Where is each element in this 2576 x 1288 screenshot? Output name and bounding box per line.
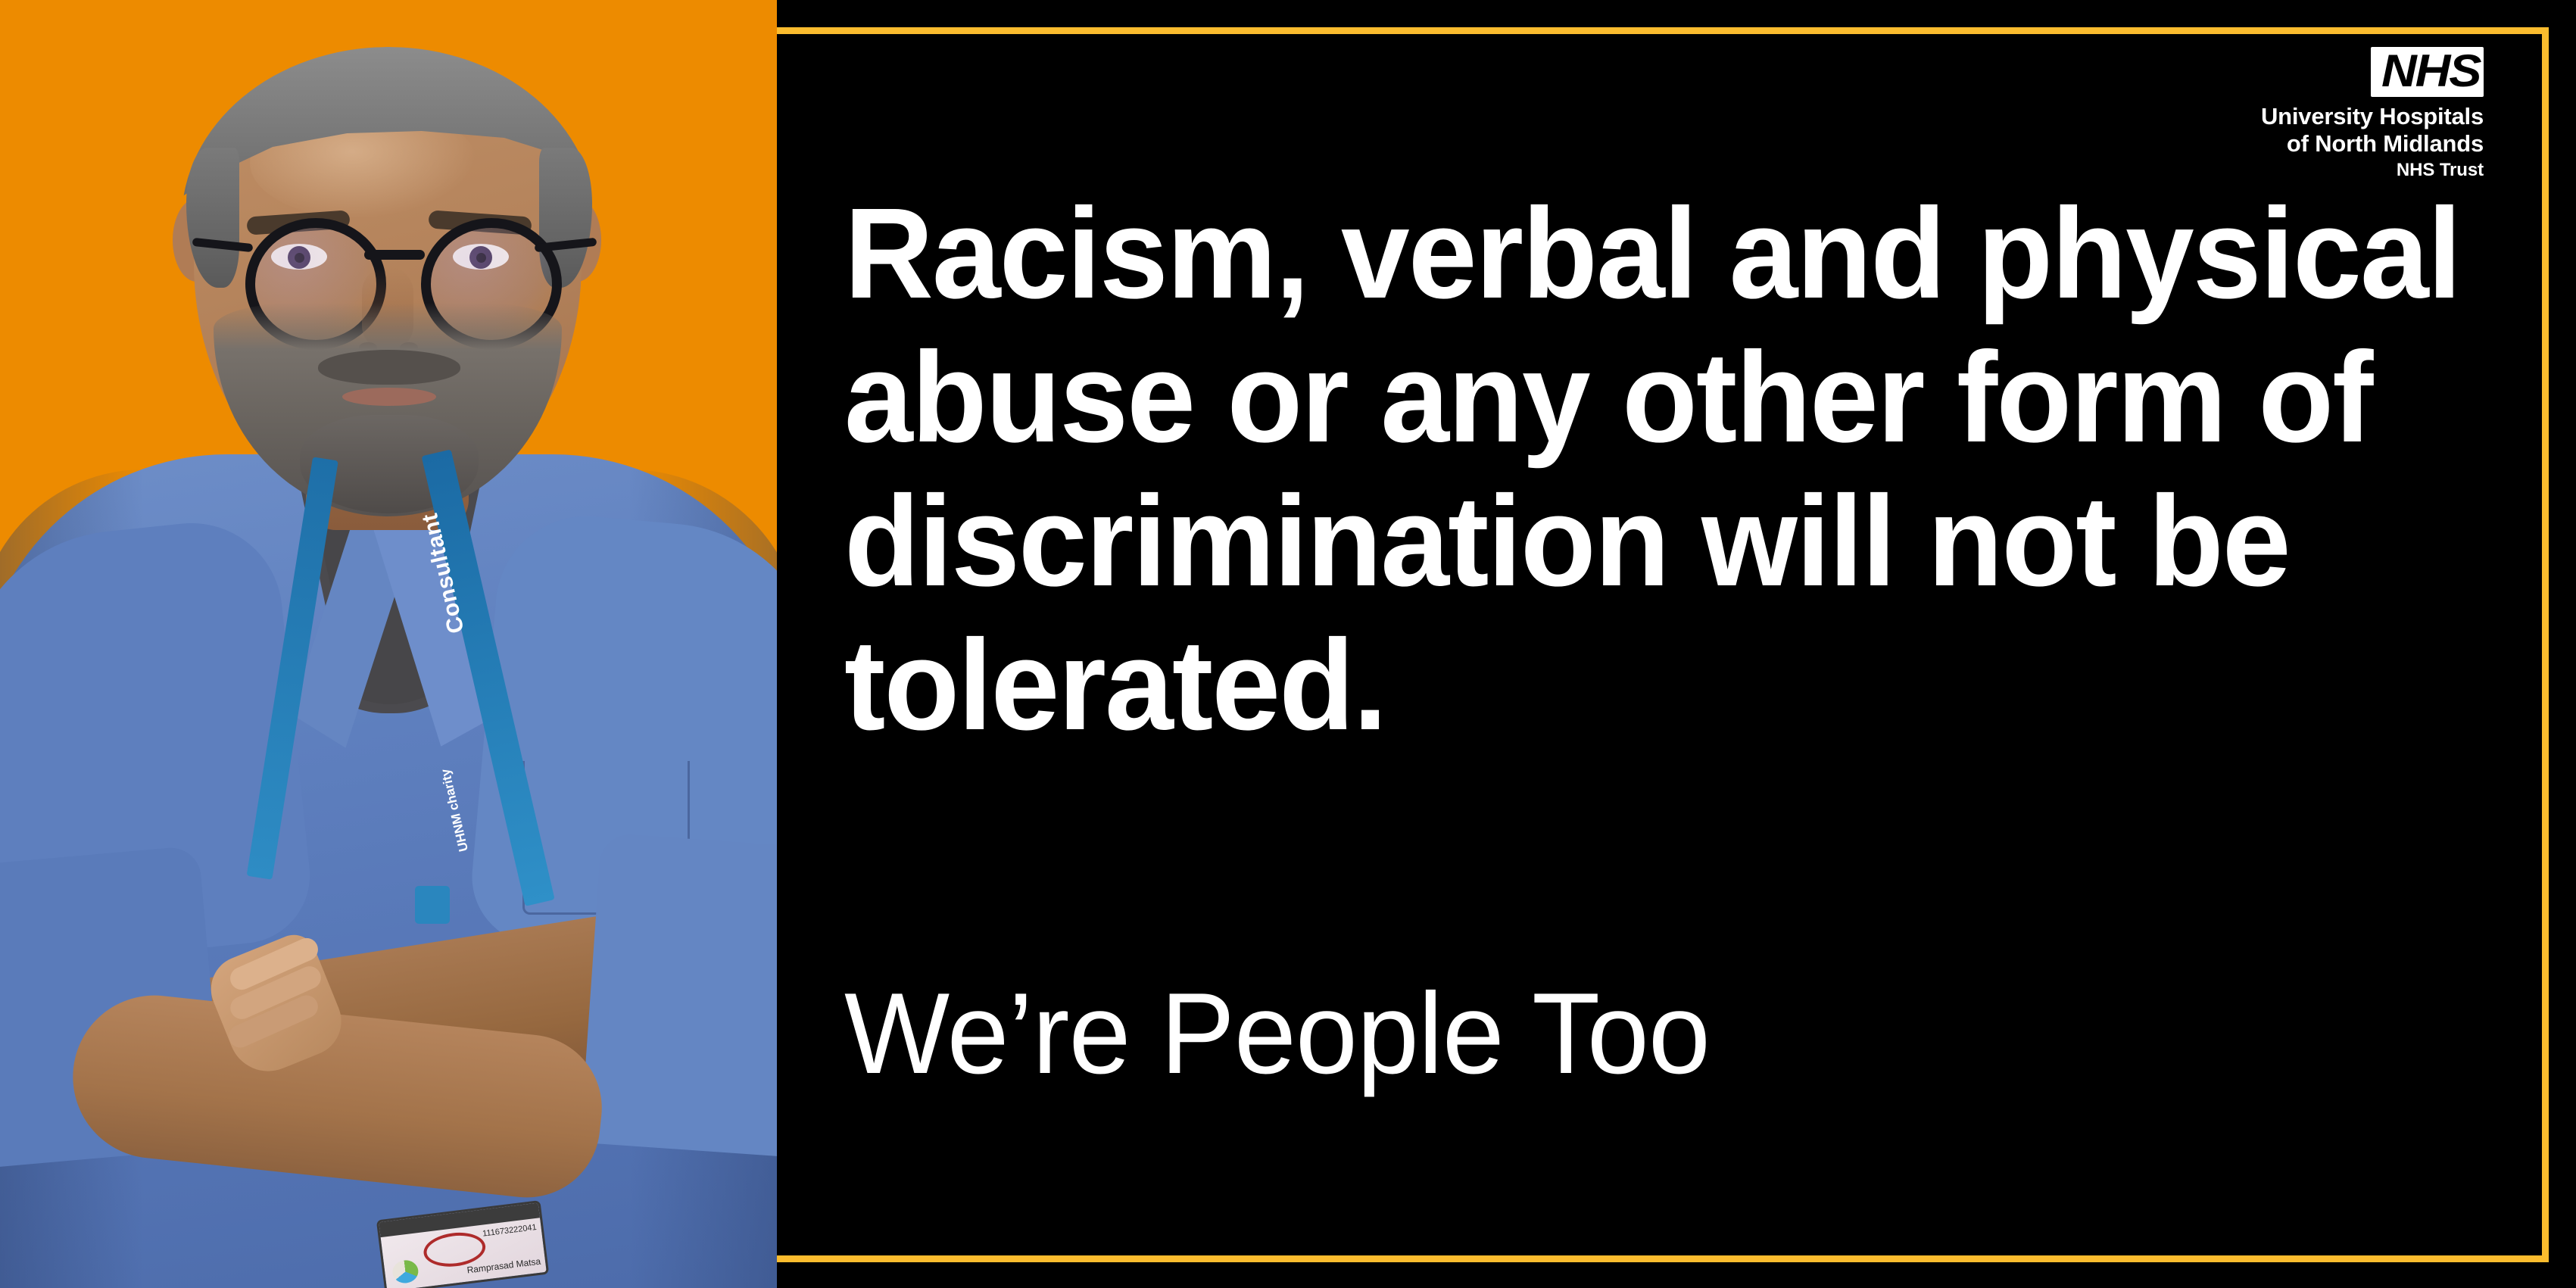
frame-rule-bottom bbox=[777, 1255, 2549, 1262]
nhs-trust-logo: NHS University Hospitals of North Midlan… bbox=[2261, 47, 2484, 181]
nhs-wordmark: NHS bbox=[2381, 50, 2480, 92]
frame-rule-top bbox=[777, 27, 2549, 34]
frame-rule-right bbox=[2542, 27, 2549, 1262]
headline: Racism, verbal and physical abuse or any… bbox=[844, 182, 2429, 757]
badge-number: 111673222041 bbox=[482, 1223, 538, 1239]
trust-name: University Hospitals of North Midlands bbox=[2261, 103, 2484, 157]
consultant-photo: Consultant UHNM charity 111673222041 Ram… bbox=[0, 0, 777, 1288]
message-block: Racism, verbal and physical abuse or any… bbox=[844, 182, 2495, 757]
trust-type: NHS Trust bbox=[2261, 160, 2484, 181]
headline-line-2: abuse or any other form of bbox=[844, 326, 2429, 469]
poster-canvas: Consultant UHNM charity 111673222041 Ram… bbox=[0, 0, 2576, 1288]
sleeve-right bbox=[580, 833, 777, 1159]
badge-logo-icon bbox=[391, 1258, 419, 1284]
campaign-tagline: We’re People Too bbox=[844, 973, 1710, 1094]
lips bbox=[342, 388, 436, 406]
moustache bbox=[318, 350, 460, 385]
glasses-bridge bbox=[364, 250, 425, 260]
photo-panel: Consultant UHNM charity 111673222041 Ram… bbox=[0, 0, 777, 1288]
lanyard-clip bbox=[415, 886, 450, 924]
headline-line-3: discrimination will not be bbox=[844, 469, 2429, 613]
headline-line-4: tolerated. bbox=[844, 613, 2429, 757]
headline-line-1: Racism, verbal and physical bbox=[844, 182, 2429, 326]
nhs-logo-box: NHS bbox=[2371, 47, 2484, 97]
